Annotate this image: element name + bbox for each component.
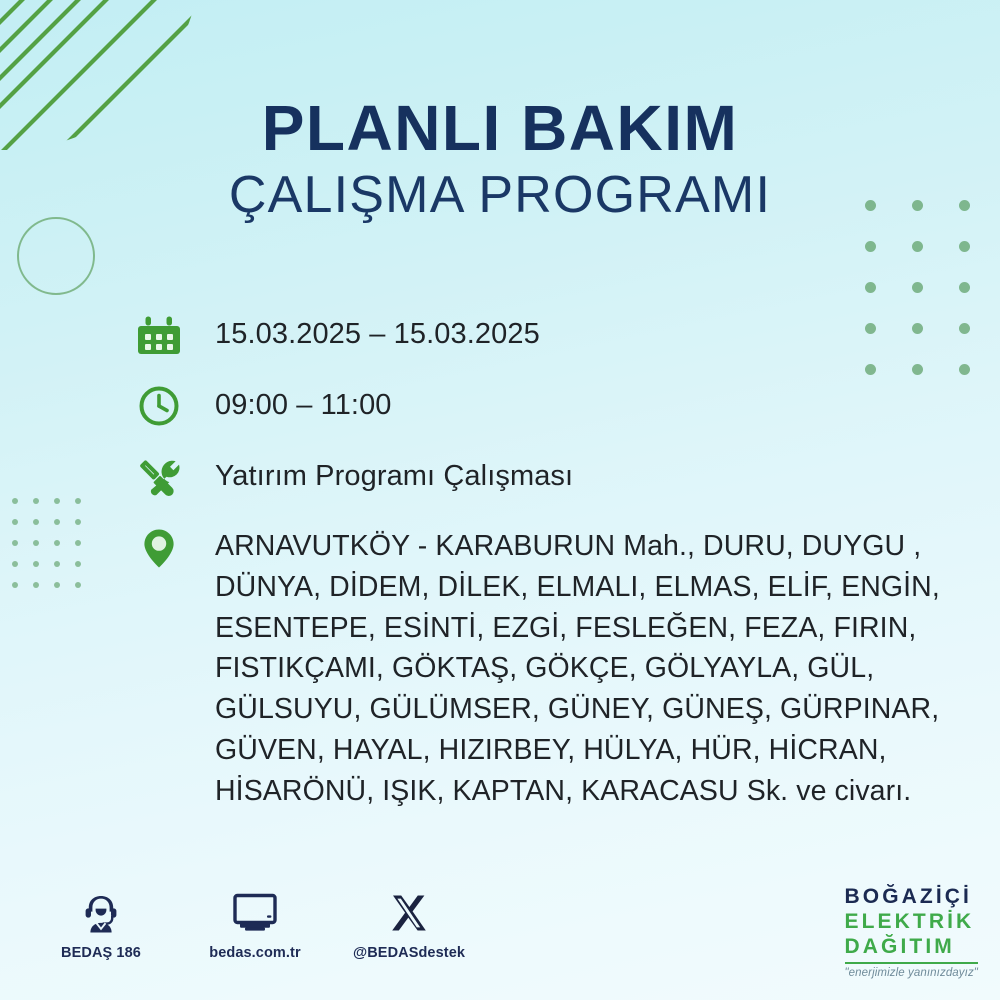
brand-line-3: DAĞITIM — [845, 936, 979, 957]
footer-contact-list: BEDAŞ 186 bedas.com.tr — [45, 890, 465, 961]
info-list: 15.03.2025 – 15.03.2025 09:00 – 11:00 — [138, 312, 968, 811]
dot-grid-left-decoration — [12, 498, 96, 603]
location-text: ARNAVUTKÖY - KARABURUN Mah., DURU, DUYGU… — [215, 525, 968, 811]
contact-label: BEDAŞ 186 — [61, 945, 141, 961]
poster-canvas: PLANLI BAKIM ÇALIŞMA PROGRAMI — [0, 0, 1000, 1000]
title-main: PLANLI BAKIM — [0, 96, 1000, 160]
footer: BEDAŞ 186 bedas.com.tr — [0, 880, 1000, 1000]
contact-social-x[interactable]: @BEDASdestek — [353, 890, 465, 961]
clock-icon — [138, 383, 186, 431]
brand-line-1: BOĞAZİÇİ — [845, 886, 979, 907]
circle-outline-decoration — [17, 217, 95, 295]
date-range-text: 15.03.2025 – 15.03.2025 — [215, 312, 540, 353]
location-pin-icon — [138, 525, 186, 573]
brand-line-2: ELEKTRİK — [845, 911, 979, 932]
headset-support-icon — [79, 890, 123, 936]
x-twitter-icon — [388, 890, 430, 936]
info-row-work-type: Yatırım Programı Çalışması — [138, 454, 968, 502]
time-range-text: 09:00 – 11:00 — [215, 383, 392, 424]
info-row-location: ARNAVUTKÖY - KARABURUN Mah., DURU, DUYGU… — [138, 525, 968, 811]
monitor-icon — [232, 890, 278, 936]
brand-logo: BOĞAZİÇİ ELEKTRİK DAĞITIM "enerjimizle y… — [845, 886, 979, 979]
contact-label: bedas.com.tr — [209, 945, 300, 961]
page-title: PLANLI BAKIM ÇALIŞMA PROGRAMI — [0, 96, 1000, 224]
contact-label: @BEDASdestek — [353, 945, 465, 961]
calendar-icon — [138, 312, 186, 360]
contact-call-center[interactable]: BEDAŞ 186 — [45, 890, 157, 961]
info-row-time: 09:00 – 11:00 — [138, 383, 968, 431]
tools-icon — [138, 454, 186, 502]
work-type-text: Yatırım Programı Çalışması — [215, 454, 573, 495]
brand-divider — [845, 962, 979, 964]
info-row-date: 15.03.2025 – 15.03.2025 — [138, 312, 968, 360]
contact-website[interactable]: bedas.com.tr — [199, 890, 311, 961]
brand-tagline: "enerjimizle yanınızdayız" — [845, 968, 979, 980]
title-subtitle: ÇALIŞMA PROGRAMI — [0, 166, 1000, 224]
